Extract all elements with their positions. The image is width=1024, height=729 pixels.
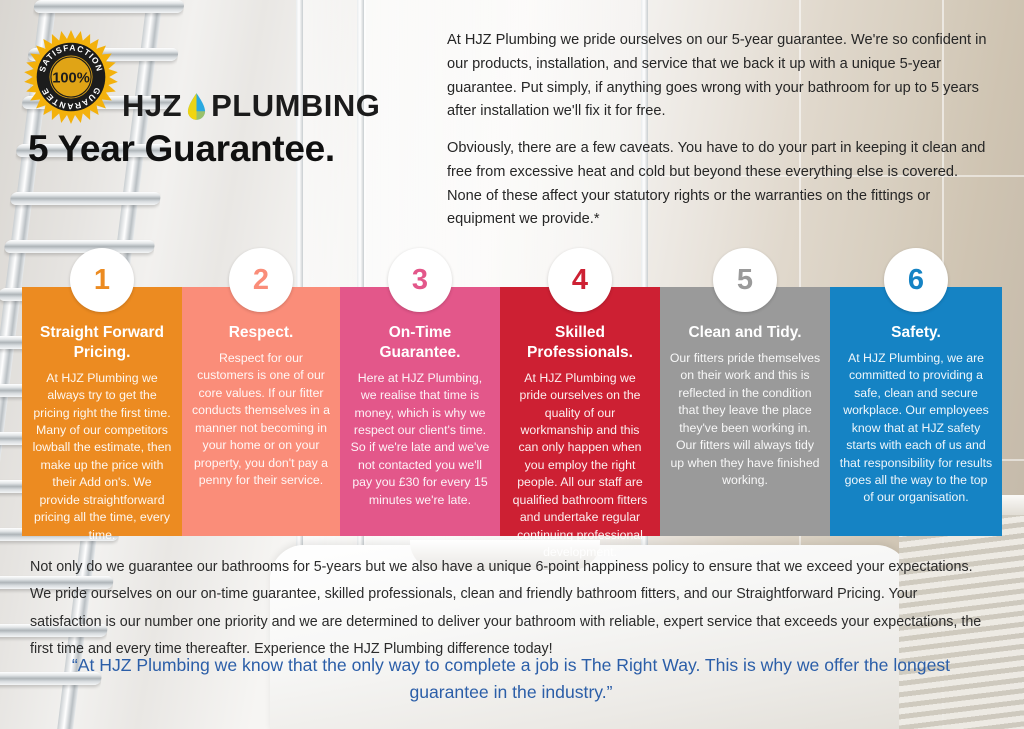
policy-number-badge-6: 6	[884, 248, 948, 312]
policy-title-5: Clean and Tidy.	[669, 323, 821, 343]
policy-body-4: At HJZ Plumbing we pride ourselves on th…	[509, 370, 651, 562]
policy-number-1: 1	[94, 264, 110, 297]
satisfaction-guarantee-badge: SATISFACTION GUARANTEE 100%	[22, 28, 120, 126]
intro-paragraph-2: Obviously, there are a few caveats. You …	[447, 137, 995, 232]
policy-number-badge-2: 2	[229, 248, 293, 312]
policy-column-3: 3 On-Time Guarantee. Here at HJZ Plumbin…	[340, 287, 500, 536]
company-logo: HJZ PLUMBING	[122, 88, 380, 124]
six-point-policy-columns: 1 Straight Forward Pricing. At HJZ Plumb…	[22, 287, 1002, 536]
page-title: 5 Year Guarantee.	[28, 128, 335, 170]
policy-number-3: 3	[412, 264, 428, 297]
guarantee-seal-icon: SATISFACTION GUARANTEE 100%	[22, 28, 120, 126]
policy-number-6: 6	[908, 264, 924, 297]
policy-number-4: 4	[572, 264, 588, 297]
policy-body-3: Here at HJZ Plumbing, we realise that ti…	[349, 370, 491, 510]
policy-column-6: 6 Safety. At HJZ Plumbing, we are commit…	[830, 287, 1002, 536]
intro-text-block: At HJZ Plumbing we pride ourselves on ou…	[447, 29, 995, 232]
policy-number-badge-4: 4	[548, 248, 612, 312]
policy-column-2: 2 Respect. Respect for our customers is …	[182, 287, 340, 536]
policy-number-2: 2	[253, 264, 269, 297]
policy-number-badge-3: 3	[388, 248, 452, 312]
water-droplet-icon	[187, 93, 206, 120]
badge-center-text: 100%	[52, 70, 90, 86]
policy-number-badge-5: 5	[713, 248, 777, 312]
summary-paragraph: Not only do we guarantee our bathrooms f…	[30, 554, 992, 664]
policy-title-4: Skilled Professionals.	[509, 323, 651, 363]
policy-body-1: At HJZ Plumbing we always try to get the…	[31, 370, 173, 545]
policy-title-3: On-Time Guarantee.	[349, 323, 491, 363]
brand-initials: HJZ	[122, 88, 182, 124]
policy-column-5: 5 Clean and Tidy. Our fitters pride them…	[660, 287, 830, 536]
brand-name: PLUMBING	[211, 88, 380, 124]
policy-column-1: 1 Straight Forward Pricing. At HJZ Plumb…	[22, 287, 182, 536]
policy-number-badge-1: 1	[70, 248, 134, 312]
policy-body-6: At HJZ Plumbing, we are committed to pro…	[839, 350, 993, 507]
policy-number-5: 5	[737, 264, 753, 297]
policy-body-2: Respect for our customers is one of our …	[191, 350, 331, 490]
intro-paragraph-1: At HJZ Plumbing we pride ourselves on ou…	[447, 29, 995, 124]
policy-body-5: Our fitters pride themselves on their wo…	[669, 350, 821, 490]
pull-quote: “At HJZ Plumbing we know that the only w…	[30, 652, 992, 707]
policy-title-6: Safety.	[839, 323, 993, 343]
policy-title-2: Respect.	[191, 323, 331, 343]
policy-column-4: 4 Skilled Professionals. At HJZ Plumbing…	[500, 287, 660, 536]
policy-title-1: Straight Forward Pricing.	[31, 323, 173, 363]
